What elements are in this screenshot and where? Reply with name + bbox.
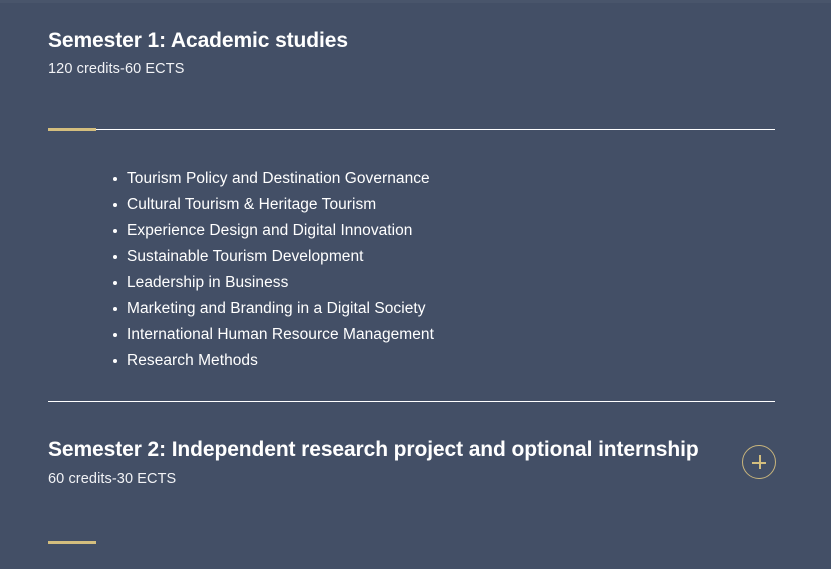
- module-label: Experience Design and Digital Innovation: [127, 222, 412, 239]
- list-item: Marketing and Branding in a Digital Soci…: [96, 296, 434, 322]
- bullet-icon: [113, 333, 117, 337]
- expand-toggle-semester-2[interactable]: [742, 445, 776, 479]
- panel-title-semester-1: Semester 1: Academic studies: [48, 28, 348, 54]
- list-item: Research Methods: [96, 348, 434, 374]
- module-label: Leadership in Business: [127, 274, 288, 291]
- bullet-icon: [113, 255, 117, 259]
- accordion-header-semester-2[interactable]: Semester 2: Independent research project…: [48, 437, 699, 463]
- panel-credits-semester-1: 120 credits-60 ECTS: [48, 59, 185, 79]
- module-label: Research Methods: [127, 352, 258, 369]
- list-item: Cultural Tourism & Heritage Tourism: [96, 192, 434, 218]
- list-item: Sustainable Tourism Development: [96, 244, 434, 270]
- section-rule-semester-2: [48, 541, 775, 544]
- list-item: Experience Design and Digital Innovation: [96, 218, 434, 244]
- bullet-icon: [113, 203, 117, 207]
- module-list-semester-1: Tourism Policy and Destination Governanc…: [96, 166, 434, 374]
- module-label: Tourism Policy and Destination Governanc…: [127, 170, 430, 187]
- bullet-icon: [113, 359, 117, 363]
- bullet-icon: [113, 177, 117, 181]
- curriculum-accordion: Semester 1: Academic studies 120 credits…: [0, 0, 831, 569]
- list-item: Leadership in Business: [96, 270, 434, 296]
- plus-icon: [759, 455, 761, 469]
- list-item: Tourism Policy and Destination Governanc…: [96, 166, 434, 192]
- panel-credits-semester-2: 60 credits-30 ECTS: [48, 469, 176, 489]
- top-edge-band: [0, 0, 831, 3]
- gold-accent-bar: [48, 128, 96, 131]
- rule-line: [48, 129, 775, 130]
- bullet-icon: [113, 281, 117, 285]
- panel-title-semester-2: Semester 2: Independent research project…: [48, 437, 699, 463]
- accordion-header-semester-1[interactable]: Semester 1: Academic studies: [48, 28, 348, 54]
- bullet-icon: [113, 307, 117, 311]
- gold-accent-bar: [48, 541, 96, 544]
- module-label: International Human Resource Management: [127, 326, 434, 343]
- panel-divider: [48, 401, 775, 402]
- module-label: Marketing and Branding in a Digital Soci…: [127, 300, 426, 317]
- section-rule-semester-1: [48, 128, 775, 131]
- bullet-icon: [113, 229, 117, 233]
- module-label: Sustainable Tourism Development: [127, 248, 363, 265]
- list-item: International Human Resource Management: [96, 322, 434, 348]
- module-label: Cultural Tourism & Heritage Tourism: [127, 196, 376, 213]
